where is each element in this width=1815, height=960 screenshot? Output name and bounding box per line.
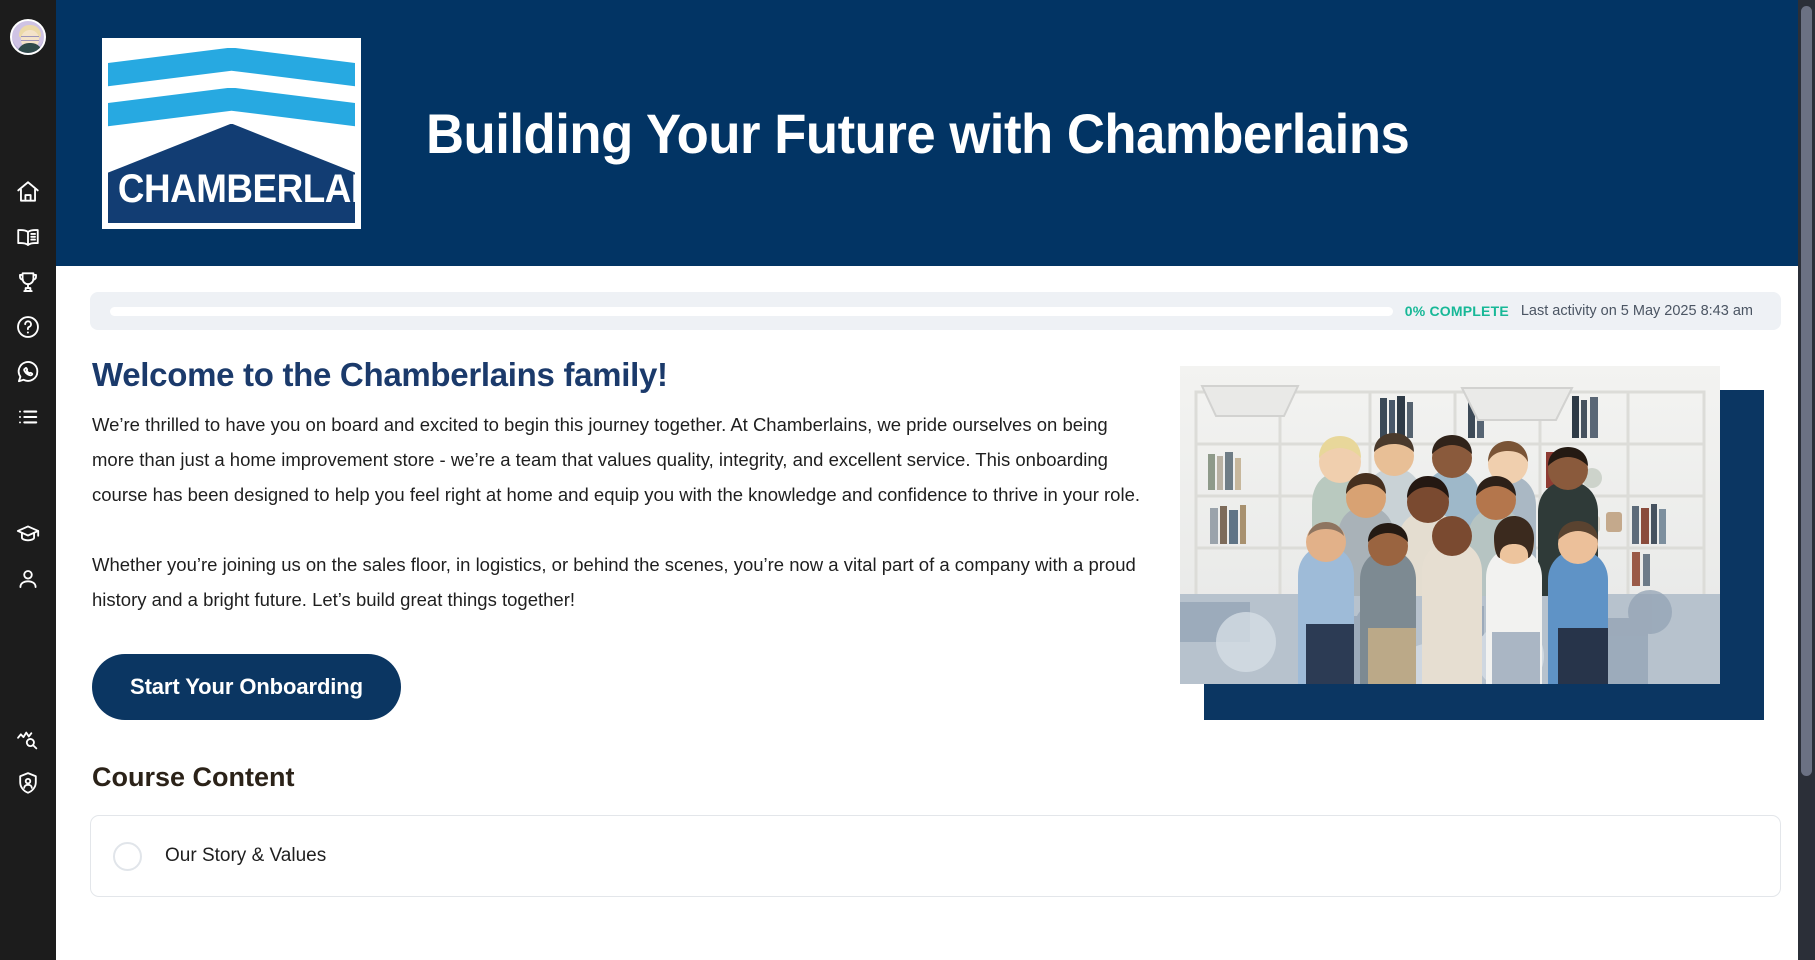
start-onboarding-button[interactable]: Start Your Onboarding xyxy=(92,654,401,720)
page-scrollbar[interactable] xyxy=(1798,0,1815,960)
last-activity-label: Last activity on 5 May 2025 8:43 am xyxy=(1521,303,1753,319)
welcome-heading: Welcome to the Chamberlains family! xyxy=(92,356,1150,394)
page-title: Building Your Future with Chamberlains xyxy=(426,101,1409,166)
sidebar-item-activity[interactable] xyxy=(0,394,56,439)
question-circle-icon xyxy=(15,314,41,340)
sidebar-item-home[interactable] xyxy=(0,169,56,214)
welcome-image-column xyxy=(1178,356,1781,720)
progress-track xyxy=(110,307,1393,316)
welcome-paragraph-2: Whether you’re joining us on the sales f… xyxy=(92,547,1142,617)
welcome-section: Welcome to the Chamberlains family! We’r… xyxy=(90,356,1781,720)
course-header-banner: CHAMBERLAIN Building Your Future with Ch… xyxy=(56,0,1815,266)
logo-chevron-top xyxy=(108,48,355,88)
course-page: CHAMBERLAIN Building Your Future with Ch… xyxy=(0,0,1815,960)
home-icon xyxy=(15,179,41,205)
sidebar-item-courses[interactable] xyxy=(0,214,56,259)
sidebar-item-profile[interactable] xyxy=(0,556,56,601)
trophy-icon xyxy=(15,269,41,295)
analytics-search-icon xyxy=(15,725,41,751)
list-icon xyxy=(15,404,41,430)
sidebar-item-learning[interactable] xyxy=(0,511,56,556)
main-column: CHAMBERLAIN Building Your Future with Ch… xyxy=(56,0,1815,960)
scrollbar-thumb[interactable] xyxy=(1801,6,1812,776)
avatar-glasses-icon xyxy=(21,36,39,41)
sidebar-item-help[interactable] xyxy=(0,304,56,349)
lesson-status-circle-icon xyxy=(113,842,142,871)
sidebar-item-reports[interactable] xyxy=(0,715,56,760)
course-content-heading: Course Content xyxy=(90,762,1781,793)
book-icon xyxy=(15,224,41,250)
sidebar-item-admin[interactable] xyxy=(0,760,56,805)
user-avatar[interactable] xyxy=(10,19,46,55)
graduation-cap-icon xyxy=(15,521,41,547)
chamberlain-logo: CHAMBERLAIN xyxy=(99,35,364,232)
lesson-row[interactable]: Our Story & Values xyxy=(90,815,1781,897)
team-photo-wrapper xyxy=(1180,366,1740,696)
left-sidebar xyxy=(0,0,56,960)
shield-user-icon xyxy=(15,770,41,796)
whatsapp-chat-icon xyxy=(15,359,41,385)
progress-percent-label: 0% COMPLETE xyxy=(1405,303,1509,319)
welcome-text-column: Welcome to the Chamberlains family! We’r… xyxy=(90,356,1150,720)
person-icon xyxy=(15,566,41,592)
welcome-paragraph-1: We’re thrilled to have you on board and … xyxy=(92,407,1142,512)
team-photo-illustration xyxy=(1180,366,1720,684)
logo-wordmark: CHAMBERLAIN xyxy=(118,169,345,209)
logo-chevron-bottom xyxy=(108,88,355,128)
course-content-area: 0% COMPLETE Last activity on 5 May 2025 … xyxy=(56,266,1815,960)
lesson-title: Our Story & Values xyxy=(165,845,326,867)
sidebar-item-chat[interactable] xyxy=(0,349,56,394)
team-photo xyxy=(1180,366,1720,684)
course-progress-bar: 0% COMPLETE Last activity on 5 May 2025 … xyxy=(90,292,1781,330)
sidebar-item-achievements[interactable] xyxy=(0,259,56,304)
